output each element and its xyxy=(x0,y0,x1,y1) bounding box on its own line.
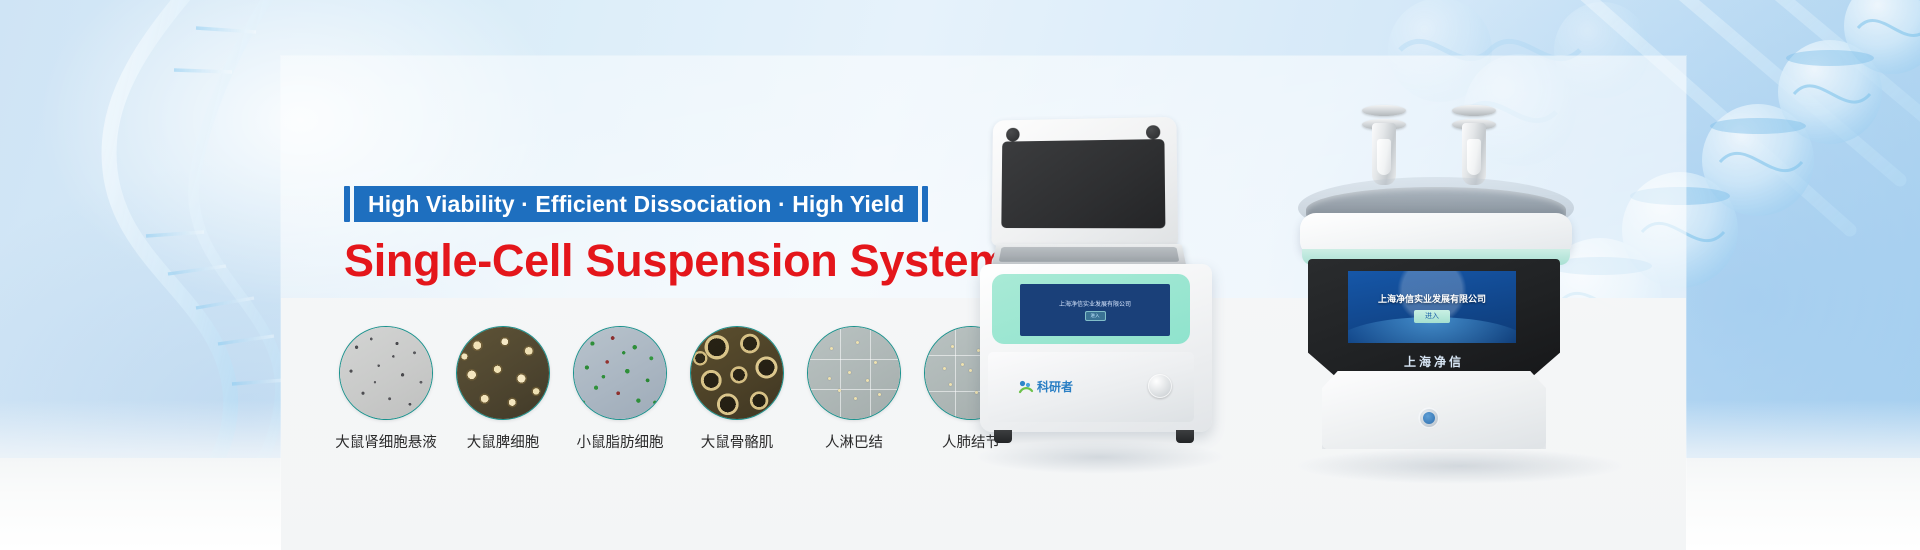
machine-right-screen-enter-button[interactable]: 进入 xyxy=(1414,310,1450,323)
sample-label: 人淋巴结 xyxy=(825,431,883,452)
sample-item[interactable]: 小鼠脂肪细胞 xyxy=(570,326,670,452)
machine-left-lid-window xyxy=(1001,139,1165,228)
machine-left-screen[interactable]: 上海净信实业发展有限公司 进入 xyxy=(1020,284,1170,336)
machine-left-foot xyxy=(1176,430,1194,443)
machine-right-screen[interactable]: 上海净信实业发展有限公司 进入 xyxy=(1348,271,1516,343)
machine-right-power-button[interactable] xyxy=(1418,407,1440,429)
micrograph-texture xyxy=(808,327,900,419)
tagline-text: High Viability · Efficient Dissociation … xyxy=(354,186,918,222)
sample-label: 大鼠肾细胞悬液 xyxy=(335,431,437,452)
sample-item[interactable]: 大鼠脾细胞 xyxy=(453,326,553,452)
machine-left-deck-plate xyxy=(999,247,1180,262)
sample-gallery: 大鼠肾细胞悬液 大鼠脾细胞 小鼠脂肪细胞 大鼠骨骼肌 xyxy=(336,326,1021,452)
machine-left[interactable]: 上海净信实业发展有限公司 进入 科研者 xyxy=(980,118,1250,458)
machine-right-screen-title: 上海净信实业发展有限公司 xyxy=(1378,292,1486,305)
lid-knob-icon xyxy=(1006,128,1020,142)
machine-right-brand-cn: 上海净信 xyxy=(1308,353,1560,370)
machine-left-body: 上海净信实业发展有限公司 进入 科研者 xyxy=(980,264,1212,432)
sample-label: 小鼠脂肪细胞 xyxy=(577,431,664,452)
micrograph-dish xyxy=(339,326,433,420)
page-title: Single-Cell Suspension System xyxy=(344,236,964,286)
tagline-bar-left-icon xyxy=(344,186,350,222)
micrograph-dish xyxy=(690,326,784,420)
machine-left-faceplate: 上海净信实业发展有限公司 进入 xyxy=(992,274,1190,344)
micrograph-texture xyxy=(340,327,432,419)
sample-item[interactable]: 大鼠骨骼肌 xyxy=(687,326,787,452)
power-button-inner-icon xyxy=(1423,412,1435,424)
machine-right-front-panel: 上海净信实业发展有限公司 进入 上海净信 Shanghai Jing Xin xyxy=(1308,259,1560,379)
micrograph-dish xyxy=(456,326,550,420)
leaf-logo-icon xyxy=(1018,380,1034,394)
machine-left-brand-text: 科研者 xyxy=(1037,378,1073,395)
machine-left-dial[interactable] xyxy=(1148,374,1172,398)
sample-item[interactable]: 人淋巴结 xyxy=(804,326,904,452)
machine-right[interactable]: 上海净信实业发展有限公司 进入 上海净信 Shanghai Jing Xin xyxy=(1300,105,1620,465)
tagline-bar-right-icon xyxy=(922,186,928,222)
machine-left-lid xyxy=(991,117,1178,247)
micrograph-texture xyxy=(574,327,666,419)
micrograph-dish xyxy=(573,326,667,420)
sample-label: 大鼠脾细胞 xyxy=(467,431,540,452)
machine-left-brand-logo: 科研者 xyxy=(1018,378,1073,395)
machine-left-lower-panel: 科研者 xyxy=(988,352,1194,422)
product-banner: High Viability · Efficient Dissociation … xyxy=(0,0,1920,550)
micrograph-dish xyxy=(807,326,901,420)
micrograph-texture xyxy=(457,327,549,419)
machine-left-foot xyxy=(994,430,1012,443)
sample-item[interactable]: 大鼠肾细胞悬液 xyxy=(336,326,436,452)
machine-left-screen-enter-button[interactable]: 进入 xyxy=(1085,311,1106,321)
headline-block: High Viability · Efficient Dissociation … xyxy=(344,186,964,286)
micrograph-texture xyxy=(691,327,783,419)
tagline-row: High Viability · Efficient Dissociation … xyxy=(344,186,964,222)
machine-left-screen-title: 上海净信实业发展有限公司 xyxy=(1059,299,1131,308)
lid-knob-icon xyxy=(1146,125,1160,139)
sample-label: 大鼠骨骼肌 xyxy=(701,431,774,452)
